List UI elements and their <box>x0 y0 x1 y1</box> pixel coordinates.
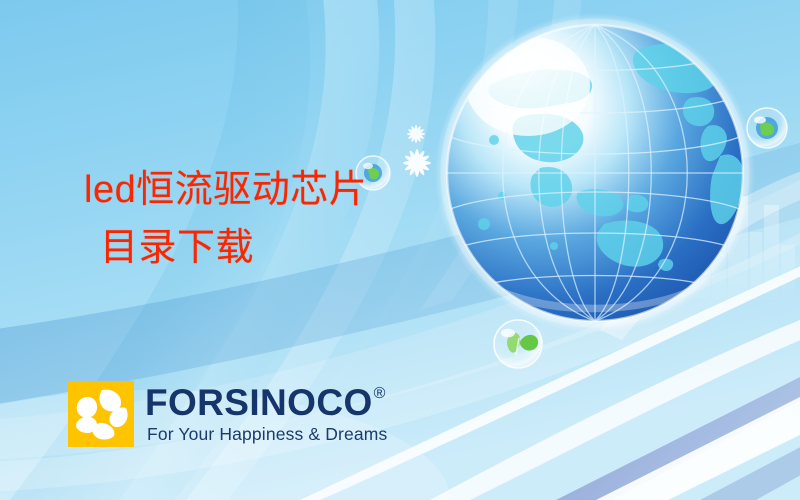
headline-text: led恒流驱动芯片 目录下载 <box>84 162 367 278</box>
city-skyline <box>660 158 795 300</box>
brand-name: FORSINOCO <box>145 384 373 421</box>
brand-logo[interactable]: FORSINOCO ® For Your Happiness & Dreams <box>68 381 387 447</box>
globe-longitude-lines <box>503 25 688 321</box>
promo-banner: led恒流驱动芯片 目录下载 FORSINOCO ® For Your H <box>0 0 800 500</box>
logo-text-block: FORSINOCO ® For Your Happiness & Dreams <box>145 384 387 444</box>
brand-wordmark: FORSINOCO ® <box>145 384 387 421</box>
bubble-globe-top <box>747 108 787 148</box>
sparkle-flower-large <box>403 149 431 177</box>
ribbon-skyline-sweep <box>600 168 800 340</box>
forsinoco-flower-icon <box>68 381 134 447</box>
globe-latitude-lines <box>447 60 743 286</box>
sparkle-flower-small <box>407 125 425 143</box>
headline-line-2: 目录下载 <box>84 220 367 278</box>
bubble-leaf-bottom <box>494 320 542 368</box>
globe-landmasses <box>478 44 744 271</box>
headline-line-1: led恒流驱动芯片 <box>84 162 367 220</box>
registered-trademark-symbol: ® <box>374 386 386 402</box>
brand-tagline: For Your Happiness & Dreams <box>147 426 387 444</box>
earth-globe <box>432 10 758 336</box>
